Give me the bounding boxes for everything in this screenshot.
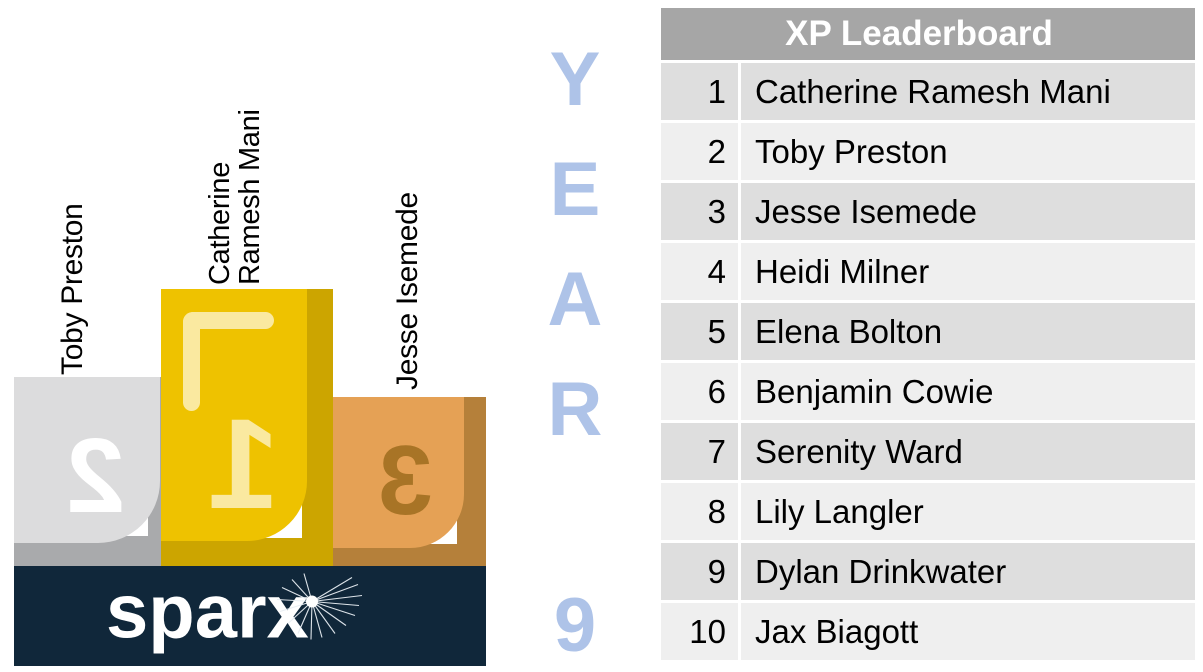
leaderboard-rank: 5 — [661, 303, 741, 360]
leaderboard-rank: 1 — [661, 63, 741, 120]
podium-block-first: 1 — [161, 289, 333, 566]
leaderboard-rank: 9 — [661, 543, 741, 600]
table-row[interactable]: 2Toby Preston — [661, 123, 1195, 180]
leaderboard-student-name: Jesse Isemede — [741, 183, 1195, 240]
podium-panel: Toby Preston CatherineRamesh Mani Jesse … — [0, 0, 500, 672]
table-row[interactable]: 7Serenity Ward — [661, 423, 1195, 480]
year-banner: Y E A R 9 — [500, 0, 650, 672]
sparx-brand-bar: sparx — [14, 566, 486, 666]
sparx-logo-svg: sparx — [100, 572, 400, 656]
leaderboard-student-name: Jax Biagott — [741, 603, 1195, 660]
year-letter-r: R — [500, 372, 650, 448]
leaderboard-title: XP Leaderboard — [661, 8, 1195, 60]
leaderboard-rank: 7 — [661, 423, 741, 480]
year-letter-y: Y — [500, 42, 650, 118]
podium-name-label-second: Toby Preston — [58, 204, 89, 376]
table-row[interactable]: 10Jax Biagott — [661, 603, 1195, 660]
leaderboard-rank: 4 — [661, 243, 741, 300]
leaderboard-rank: 10 — [661, 603, 741, 660]
leaderboard-student-name: Catherine Ramesh Mani — [741, 63, 1195, 120]
leaderboard-rows: 1Catherine Ramesh Mani2Toby Preston3Jess… — [661, 60, 1195, 660]
leaderboard-student-name: Dylan Drinkwater — [741, 543, 1195, 600]
leaderboard-student-name: Heidi Milner — [741, 243, 1195, 300]
spark-core-icon — [306, 596, 318, 608]
table-row[interactable]: 3Jesse Isemede — [661, 183, 1195, 240]
podium-name-line-2: Ramesh Mani — [234, 109, 266, 285]
leaderboard-student-name: Elena Bolton — [741, 303, 1195, 360]
leaderboard-student-name: Lily Langler — [741, 483, 1195, 540]
podium-number-third: 3 — [378, 431, 433, 529]
leaderboard-student-name: Serenity Ward — [741, 423, 1195, 480]
leaderboard-rank: 6 — [661, 363, 741, 420]
xp-leaderboard-table: XP Leaderboard 1Catherine Ramesh Mani2To… — [661, 8, 1195, 660]
table-row[interactable]: 4Heidi Milner — [661, 243, 1195, 300]
table-row[interactable]: 5Elena Bolton — [661, 303, 1195, 360]
table-row[interactable]: 1Catherine Ramesh Mani — [661, 63, 1195, 120]
table-row[interactable]: 8Lily Langler — [661, 483, 1195, 540]
podium-name-label-third: Jesse Isemede — [393, 192, 424, 390]
podium-block-third: 3 — [333, 397, 486, 566]
year-letter-e: E — [500, 152, 650, 228]
podium-corner-bracket-icon — [183, 312, 266, 403]
year-number: 9 — [500, 588, 650, 664]
leaderboard-student-name: Toby Preston — [741, 123, 1195, 180]
table-row[interactable]: 9Dylan Drinkwater — [661, 543, 1195, 600]
podium-name-label-first: CatherineRamesh Mani — [206, 109, 265, 285]
leaderboard-rank: 8 — [661, 483, 741, 540]
year-letter-a: A — [500, 262, 650, 338]
leaderboard-student-name: Benjamin Cowie — [741, 363, 1195, 420]
leaderboard-rank: 2 — [661, 123, 741, 180]
podium-name-line-1: Catherine — [204, 162, 236, 285]
podium-number-second: 2 — [66, 423, 125, 529]
podium-number-first: 1 — [208, 401, 279, 529]
sparx-wordmark: sparx — [106, 572, 309, 655]
leaderboard-rank: 3 — [661, 183, 741, 240]
sparx-logo: sparx — [14, 572, 486, 661]
podium-base-first — [161, 538, 333, 566]
table-row[interactable]: 6Benjamin Cowie — [661, 363, 1195, 420]
